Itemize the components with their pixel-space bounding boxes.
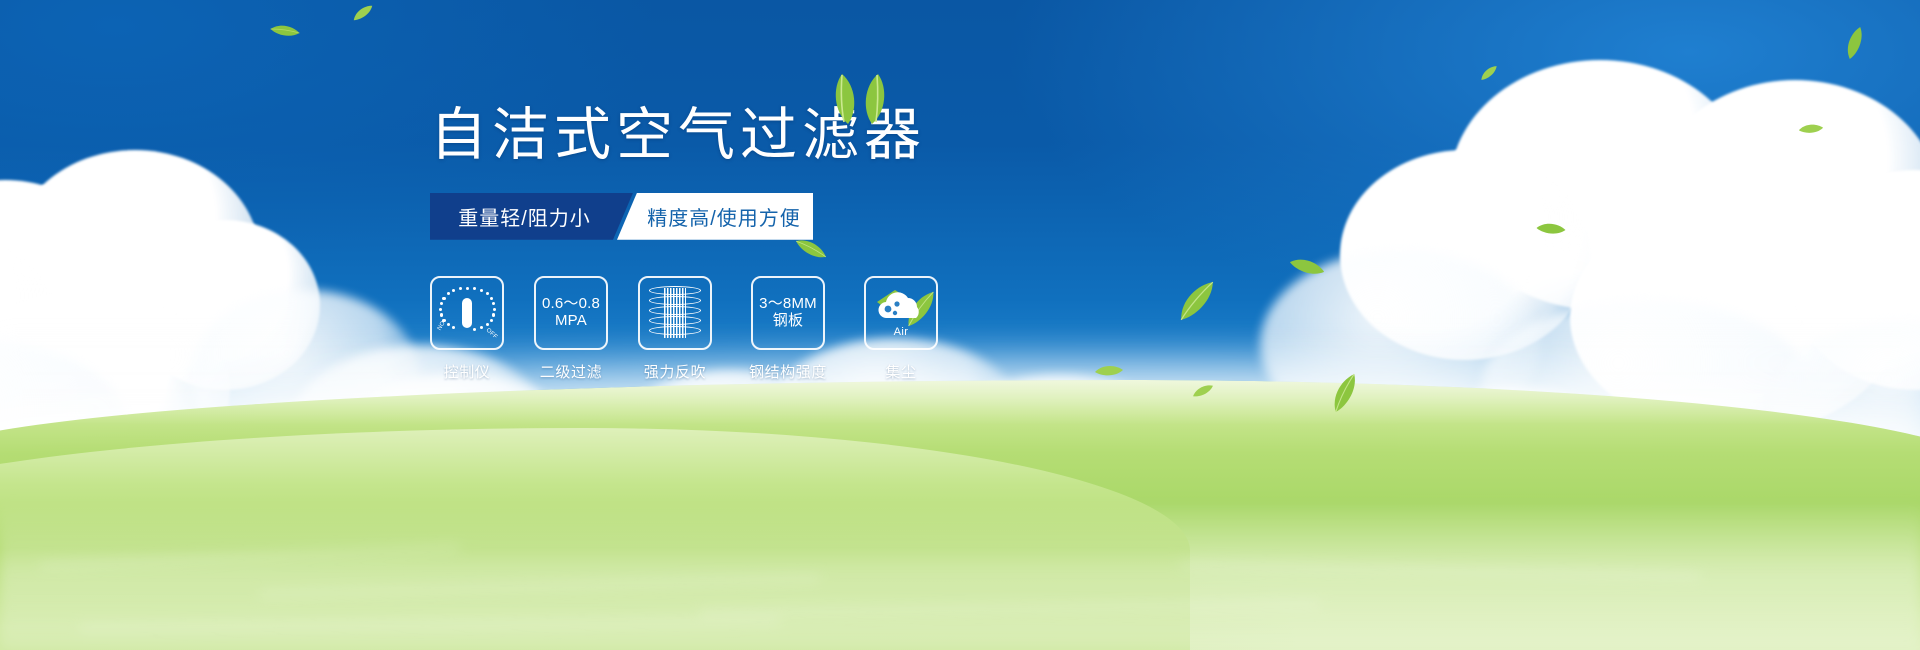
feature-label: 钢结构强度: [749, 361, 827, 382]
product-banner: 自洁式空气过滤器 重量轻/阻力小 精度高/使用方便 NO: [0, 0, 1920, 650]
subtitle-tabs: 重量轻/阻力小 精度高/使用方便: [430, 193, 818, 240]
leaf-icon: [1170, 279, 1223, 323]
gauge-label-off: OFF: [485, 327, 499, 340]
feature-icon-box: 3～8MM 钢板: [751, 276, 825, 350]
page-title: 自洁式空气过滤器: [430, 104, 1150, 167]
feature-item-dust-collection[interactable]: Air 集尘: [864, 276, 938, 382]
leaf-icon: [1535, 217, 1567, 241]
feature-item-backblow[interactable]: 强力反吹: [638, 276, 712, 382]
title-block: 自洁式空气过滤器: [430, 104, 1150, 167]
feature-label: 二级过滤: [540, 361, 602, 382]
leaf-icon: [1288, 250, 1326, 284]
tab-precision-convenience[interactable]: 精度高/使用方便: [617, 193, 813, 240]
grass-highlight: [0, 500, 1920, 650]
air-label: Air: [873, 326, 929, 338]
steel-icon: 3～8MM 钢板: [759, 296, 817, 330]
feature-icon-box: Air: [864, 276, 938, 350]
title-leaves-icon: [822, 72, 898, 131]
pressure-icon: 0.6～0.8 MPA: [542, 296, 600, 330]
leaf-icon: [1478, 65, 1500, 82]
feature-item-secondary-filter[interactable]: 0.6～0.8 MPA 二级过滤: [534, 276, 608, 382]
feature-icon-box: [638, 276, 712, 350]
feature-list: NO OFF: [430, 276, 1150, 382]
feature-icon-box: 0.6～0.8 MPA: [534, 276, 608, 350]
tab-weight-resistance[interactable]: 重量轻/阻力小: [430, 193, 633, 240]
leaf-icon: [1798, 121, 1824, 138]
leaf-icon: [350, 4, 375, 22]
leaf-icon: [1839, 25, 1872, 61]
feature-icon-box: NO OFF: [430, 276, 504, 350]
feature-item-controller[interactable]: NO OFF: [430, 276, 504, 382]
banner-content: 自洁式空气过滤器 重量轻/阻力小 精度高/使用方便 NO: [430, 104, 1150, 382]
feature-label: 集尘: [885, 361, 916, 382]
feature-label: 强力反吹: [644, 361, 706, 382]
leaf-icon: [269, 18, 301, 43]
feature-label: 控制仪: [444, 361, 491, 382]
feature-item-steel-strength[interactable]: 3～8MM 钢板 钢结构强度: [742, 276, 834, 382]
cartridge-icon: [649, 286, 701, 340]
air-cloud-icon: Air: [873, 290, 929, 336]
steel-material: 钢板: [759, 313, 817, 330]
gauge-icon: NO OFF: [439, 287, 495, 339]
pressure-value: 0.6～0.8: [542, 295, 600, 312]
steel-thickness: 3～8MM: [759, 295, 817, 312]
pressure-unit: MPA: [542, 313, 600, 330]
